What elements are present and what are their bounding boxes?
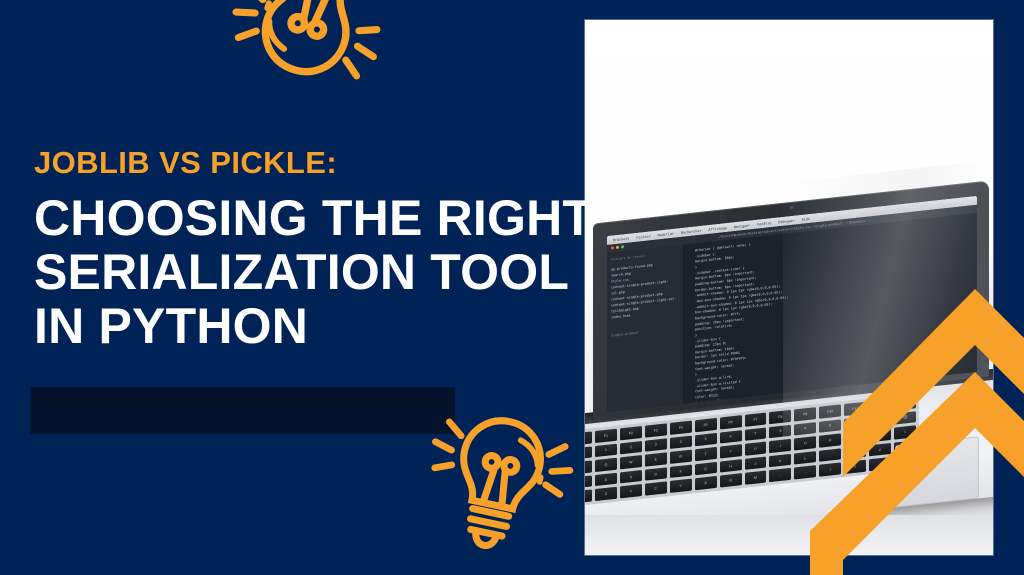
key: 7 <box>745 427 767 441</box>
eyebrow-text: JOBLIB VS PICKLE: <box>34 146 574 181</box>
key: 0 <box>819 419 841 433</box>
key: ⏏ <box>894 396 916 410</box>
key: I <box>769 439 791 453</box>
file-tree-section[interactable]: single-product <box>611 326 679 339</box>
menu-item[interactable]: Modifier <box>658 231 674 237</box>
key: . <box>794 465 816 479</box>
key: C <box>645 482 667 496</box>
key: T <box>695 447 717 461</box>
code-editor: Brackets Fichier Modifier Rechercher Aff… <box>607 196 977 412</box>
key: \ <box>894 425 916 439</box>
key: F4 <box>670 421 692 435</box>
key: Z <box>595 487 617 501</box>
menu-item[interactable]: Brackets <box>613 236 629 242</box>
hero-photo: escF1F2F3F4F5F6F7F8F9F10F11F12⏏ ~1234567… <box>585 20 993 555</box>
key: 9 <box>794 422 816 436</box>
menu-item[interactable]: Naviguer <box>734 223 750 229</box>
key: F6 <box>720 415 742 429</box>
menu-item[interactable]: Affichage <box>708 225 726 231</box>
key: ⌫ <box>894 411 916 425</box>
key: [ <box>844 431 866 445</box>
close-icon[interactable] <box>611 246 614 249</box>
key: R <box>670 450 692 464</box>
key: U <box>745 442 767 456</box>
editor-code-area[interactable]: @charset { @default: none; } .sidebar { … <box>683 213 977 404</box>
key: = <box>869 414 891 428</box>
key: 5 <box>695 432 717 446</box>
key: M <box>745 471 767 485</box>
key: ⇪ <box>585 475 592 489</box>
blog-banner: escF1F2F3F4F5F6F7F8F9F10F11F12⏏ ~1234567… <box>0 0 1024 575</box>
key: / <box>819 463 841 477</box>
key: Q <box>595 458 617 472</box>
key: 6 <box>720 430 742 444</box>
webcam-icon <box>790 206 793 209</box>
key: 2 <box>620 441 642 455</box>
key: F3 <box>645 423 667 437</box>
desk-surface <box>585 515 993 555</box>
key: H <box>720 459 742 473</box>
key: E <box>645 452 667 466</box>
key: W <box>620 455 642 469</box>
lightbulb-icon <box>206 0 418 118</box>
key: 8 <box>769 424 791 438</box>
key: F9 <box>794 407 816 421</box>
headline-block: JOBLIB VS PICKLE: CHOOSING THE RIGHT SER… <box>34 146 574 353</box>
menu-item[interactable]: Fichier <box>636 234 650 240</box>
key: O <box>794 436 816 450</box>
key: L <box>794 451 816 465</box>
key: 3 <box>645 438 667 452</box>
key: ⇧ <box>844 460 866 474</box>
minimize-icon[interactable] <box>616 245 619 248</box>
key: B <box>695 476 717 490</box>
key: Y <box>720 444 742 458</box>
menu-item[interactable]: Fenêtre <box>757 221 771 227</box>
menu-item[interactable]: Aide <box>802 216 810 221</box>
key: F5 <box>695 418 717 432</box>
key: D <box>645 467 667 481</box>
key: F1 <box>595 429 617 443</box>
menu-item[interactable]: Déboguer <box>778 218 794 224</box>
key: ; <box>819 448 841 462</box>
key: F10 <box>819 404 841 418</box>
key: A <box>595 473 617 487</box>
key: , <box>769 468 791 482</box>
editor-file-tree[interactable]: Fichiers de travail wp-products-found.ph… <box>607 245 683 412</box>
laptop-screen: Brackets Fichier Modifier Rechercher Aff… <box>607 196 977 412</box>
menu-item[interactable]: Rechercher <box>681 228 701 234</box>
headline-line-1: CHOOSING THE RIGHT <box>34 191 574 245</box>
key: F <box>670 464 692 478</box>
key: F11 <box>844 402 866 416</box>
key: F8 <box>769 410 791 424</box>
key: - <box>844 416 866 430</box>
key: F2 <box>620 426 642 440</box>
page-title: CHOOSING THE RIGHT SERIALIZATION TOOL IN… <box>34 191 574 353</box>
key: ] <box>869 428 891 442</box>
headline-line-3: IN PYTHON <box>34 299 574 353</box>
key: ' <box>844 445 866 459</box>
key: 1 <box>595 443 617 457</box>
key: 4 <box>670 435 692 449</box>
key: F7 <box>745 412 767 426</box>
headline-line-2: SERIALIZATION TOOL <box>34 245 574 299</box>
key: X <box>620 484 642 498</box>
key: ▲ <box>869 457 891 471</box>
key: S <box>620 470 642 484</box>
key: K <box>769 454 791 468</box>
lightbulb-icon <box>403 383 593 573</box>
key: F12 <box>869 399 891 413</box>
key: ↵ <box>869 443 891 457</box>
key: G <box>695 462 717 476</box>
key: ⇥ <box>585 461 592 475</box>
key: J <box>745 456 767 470</box>
maximize-icon[interactable] <box>621 245 624 248</box>
key: V <box>670 479 692 493</box>
subtitle-bar <box>30 387 455 434</box>
key: ⇧ <box>585 490 592 504</box>
laptop-trackpad <box>895 436 979 507</box>
key: N <box>720 474 742 488</box>
key: P <box>819 434 841 448</box>
